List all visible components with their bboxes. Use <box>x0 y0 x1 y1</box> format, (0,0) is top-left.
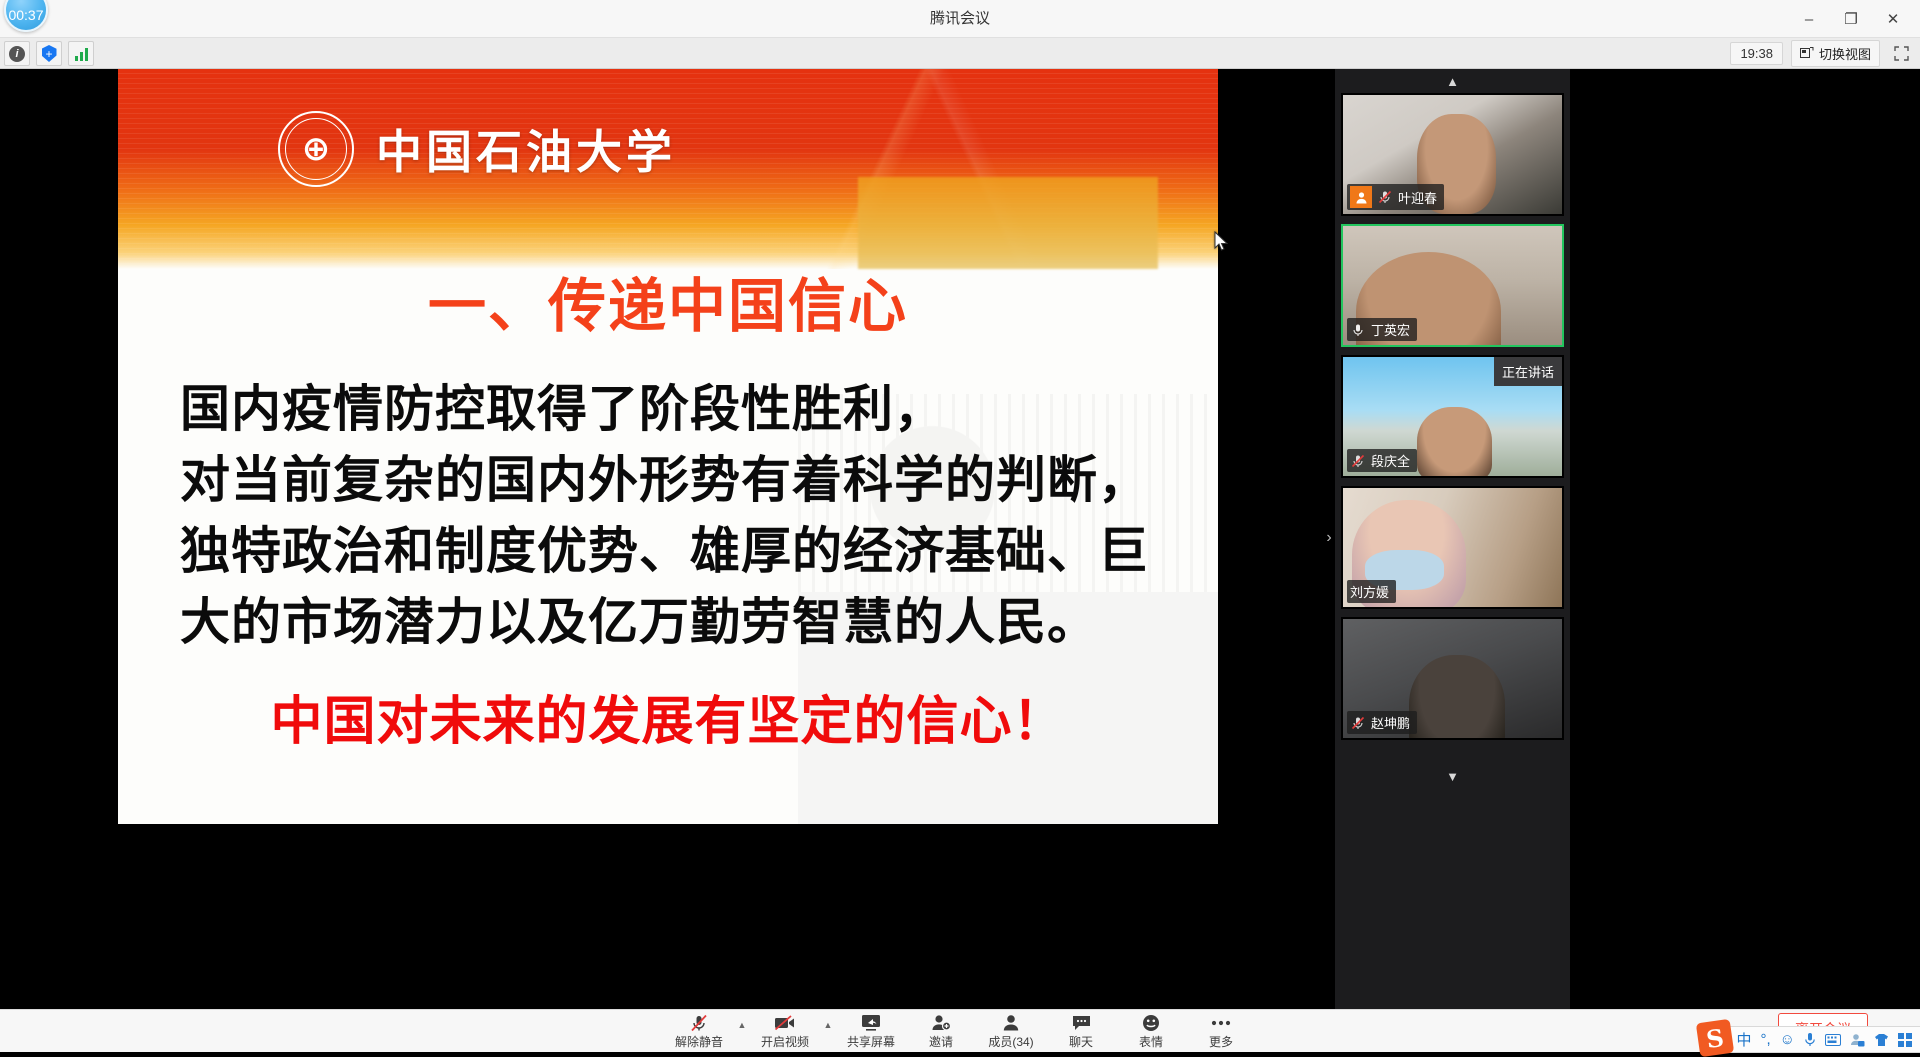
fullscreen-icon[interactable] <box>1888 42 1914 66</box>
participant-tile[interactable]: 正在讲话 段庆全 <box>1341 355 1564 478</box>
ime-punctuation-icon[interactable]: °, <box>1761 1031 1771 1048</box>
slide-line-4: 大的市场潜力以及亿万勤劳智慧的人民。 <box>180 586 1156 657</box>
slide-body: 一、传递中国信心 国内疫情防控取得了阶段性胜利， 对当前复杂的国内外形势有着科学… <box>118 259 1218 754</box>
sidebar-collapse-chevron-icon[interactable]: › <box>1322 525 1336 551</box>
invite-button[interactable]: 邀请 <box>907 1010 975 1053</box>
participant-name: 段庆全 <box>1371 451 1410 470</box>
chat-button[interactable]: 聊天 <box>1047 1010 1115 1053</box>
participant-name-tag: 叶迎春 <box>1347 184 1444 210</box>
participant-name: 刘方媛 <box>1350 582 1389 601</box>
person-icon <box>1002 1013 1020 1032</box>
slide-title: 一、传递中国信心 <box>180 259 1156 343</box>
university-seal-icon: ⊕ <box>278 111 354 187</box>
mute-toggle-label: 解除静音 <box>675 1033 723 1050</box>
sogou-logo-icon[interactable]: S <box>1696 1019 1734 1057</box>
participant-name: 赵坤鹏 <box>1371 713 1410 732</box>
ime-toolbox-icon[interactable] <box>1898 1033 1912 1047</box>
camera-off-icon <box>774 1013 796 1032</box>
participant-name-tag: 赵坤鹏 <box>1347 711 1417 734</box>
more-label: 更多 <box>1209 1033 1233 1050</box>
emoji-label: 表情 <box>1139 1033 1163 1050</box>
switch-view-button[interactable]: 切换视图 <box>1791 40 1880 67</box>
signal-bars-icon[interactable] <box>68 41 94 66</box>
ime-voice-icon[interactable] <box>1804 1032 1816 1047</box>
chat-label: 聊天 <box>1069 1033 1093 1050</box>
ime-user-icon[interactable] <box>1850 1033 1865 1047</box>
sogou-ime-toolbar[interactable]: S 中 °, ☺ <box>1701 1026 1920 1053</box>
chat-bubble-icon <box>1072 1013 1091 1032</box>
toolstrip-right-controls: 19:38 切换视图 <box>1730 38 1914 69</box>
sidebar-scroll-up-button[interactable]: ▲ <box>1335 69 1570 93</box>
more-button[interactable]: 更多 <box>1187 1010 1255 1053</box>
video-toggle-button[interactable]: 开启视频 <box>751 1010 819 1053</box>
ellipsis-icon <box>1211 1013 1231 1032</box>
video-options-caret-icon[interactable]: ▲ <box>821 1010 835 1053</box>
speaking-tooltip: 正在讲话 <box>1494 357 1562 386</box>
emoji-button[interactable]: 表情 <box>1117 1010 1185 1053</box>
mic-muted-icon <box>1350 453 1366 469</box>
mic-muted-icon <box>690 1013 708 1032</box>
participant-name-tag: 丁英宏 <box>1347 318 1417 341</box>
switch-view-label: 切换视图 <box>1819 44 1871 63</box>
maximize-button[interactable]: ❐ <box>1830 4 1872 34</box>
slide-line-1: 国内疫情防控取得了阶段性胜利， <box>180 373 1156 444</box>
window-titlebar: 腾讯会议 – ❐ ✕ <box>0 0 1920 38</box>
ime-emoji-icon[interactable]: ☺ <box>1780 1031 1795 1048</box>
participant-tile[interactable]: 丁英宏 <box>1341 224 1564 347</box>
members-button[interactable]: 成员(34) <box>977 1010 1045 1053</box>
slide-line-2: 对当前复杂的国内外形势有着科学的判断， <box>180 444 1156 515</box>
smiley-icon <box>1142 1013 1160 1032</box>
presentation-slide: ⊕ 中国石油大学 一、传递中国信心 国内疫情防控取得了阶段性胜利， 对当前复杂的… <box>118 69 1218 824</box>
participant-name-tag: 刘方媛 <box>1347 580 1396 603</box>
toolstrip-left-icons: i + <box>4 38 94 69</box>
participant-name-tag: 段庆全 <box>1347 449 1417 472</box>
minimize-button[interactable]: – <box>1788 4 1830 34</box>
mute-toggle-button[interactable]: 解除静音 <box>665 1010 733 1053</box>
switch-view-icon <box>1800 46 1814 62</box>
mic-muted-icon <box>1377 189 1393 205</box>
banner-gold-block <box>858 177 1158 269</box>
slide-line-3: 独特政治和制度优势、雄厚的经济基础、巨 <box>180 515 1156 586</box>
participant-tile-list: 叶迎春 丁英宏 正在讲话 段庆全 <box>1335 93 1570 748</box>
meeting-toolstrip: i + 19:38 切换视图 <box>0 38 1920 69</box>
sidebar-scroll-down-button[interactable]: ▼ <box>1335 764 1570 788</box>
invite-label: 邀请 <box>929 1033 953 1050</box>
share-screen-button[interactable]: 共享屏幕 <box>837 1010 905 1053</box>
bottom-toolbar-items: 解除静音 ▲ 开启视频 ▲ 共享屏幕 邀请 成员(34) <box>665 1010 1255 1053</box>
meeting-bottom-toolbar: 解除静音 ▲ 开启视频 ▲ 共享屏幕 邀请 成员(34) <box>0 1009 1920 1052</box>
members-label: 成员(34) <box>988 1033 1033 1050</box>
ime-language-icon[interactable]: 中 <box>1736 1029 1751 1050</box>
participant-tile[interactable]: 叶迎春 <box>1341 93 1564 216</box>
share-screen-label: 共享屏幕 <box>847 1033 895 1050</box>
ime-keyboard-icon[interactable] <box>1825 1034 1841 1046</box>
participant-name: 叶迎春 <box>1398 188 1437 207</box>
mic-muted-icon <box>1350 715 1366 731</box>
shield-icon[interactable]: + <box>36 41 62 66</box>
video-toggle-label: 开启视频 <box>761 1033 809 1050</box>
participant-sidebar: ▲ 叶迎春 丁英宏 正 <box>1335 69 1570 1009</box>
participant-name: 丁英宏 <box>1371 320 1410 339</box>
slide-highlight-text: 中国对未来的发展有坚定的信心！ <box>180 679 1156 754</box>
clock-time: 19:38 <box>1730 42 1783 65</box>
seal-glyph: ⊕ <box>302 132 331 166</box>
share-screen-icon <box>861 1013 881 1032</box>
close-button[interactable]: ✕ <box>1872 4 1914 34</box>
invite-person-icon <box>931 1013 951 1032</box>
participant-tile[interactable]: 刘方媛 <box>1341 486 1564 609</box>
university-name: 中国石油大学 <box>376 116 676 182</box>
info-icon[interactable]: i <box>4 41 30 66</box>
university-logo: ⊕ 中国石油大学 <box>278 111 676 187</box>
avatar-icon <box>1350 186 1372 208</box>
ime-skin-icon[interactable] <box>1874 1033 1889 1047</box>
window-controls: – ❐ ✕ <box>1788 0 1914 38</box>
participant-tile[interactable]: 赵坤鹏 <box>1341 617 1564 740</box>
mic-on-icon <box>1350 322 1366 338</box>
window-title: 腾讯会议 <box>0 0 1920 38</box>
audio-options-caret-icon[interactable]: ▲ <box>735 1010 749 1053</box>
